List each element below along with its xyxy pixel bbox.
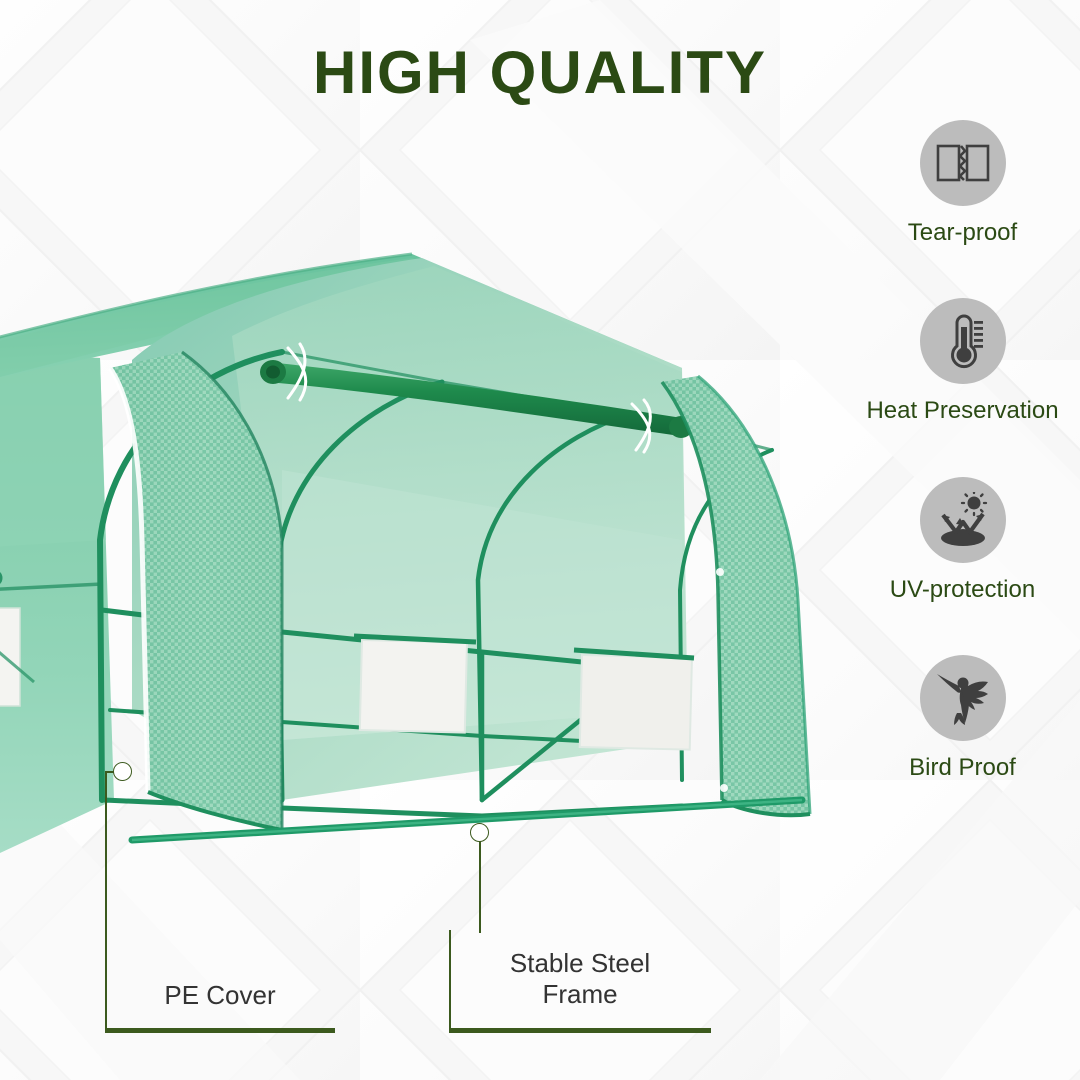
callout-label-steel-frame-line2: Frame bbox=[449, 979, 711, 1010]
feature-label-heat-preservation: Heat Preservation bbox=[845, 398, 1080, 424]
callout-marker-steel-frame bbox=[470, 823, 489, 842]
feature-list: Tear-proof Heat Preservation bbox=[845, 120, 1080, 834]
callout-pe-cover: PE Cover bbox=[105, 930, 335, 1033]
uv-protection-icon bbox=[920, 477, 1006, 563]
feature-bird-proof: Bird Proof bbox=[845, 655, 1080, 781]
feature-uv-protection: UV-protection bbox=[845, 477, 1080, 603]
page-title: HIGH QUALITY bbox=[0, 38, 1080, 107]
callout-uline-pe-cover bbox=[105, 1028, 335, 1033]
feature-label-uv-protection: UV-protection bbox=[845, 577, 1080, 603]
callout-steel-frame: Stable Steel Frame bbox=[449, 930, 711, 1033]
tear-proof-icon bbox=[920, 120, 1006, 206]
feature-label-tear-proof: Tear-proof bbox=[845, 220, 1080, 246]
callout-label-steel-frame: Stable Steel Frame bbox=[449, 948, 711, 1009]
bird-icon bbox=[920, 655, 1006, 741]
feature-label-bird-proof: Bird Proof bbox=[845, 755, 1080, 781]
product-image-greenhouse bbox=[0, 240, 862, 880]
thermometer-icon bbox=[920, 298, 1006, 384]
feature-heat-preservation: Heat Preservation bbox=[845, 298, 1080, 424]
feature-tear-proof: Tear-proof bbox=[845, 120, 1080, 246]
callout-marker-pe-cover bbox=[113, 762, 132, 781]
callout-label-pe-cover: PE Cover bbox=[105, 980, 335, 1011]
callout-label-steel-frame-line1: Stable Steel bbox=[449, 948, 711, 979]
callout-uline-steel-frame bbox=[449, 1028, 711, 1033]
callout-stem-steel-frame bbox=[479, 832, 481, 933]
greenhouse-left-side-panel bbox=[0, 352, 114, 880]
